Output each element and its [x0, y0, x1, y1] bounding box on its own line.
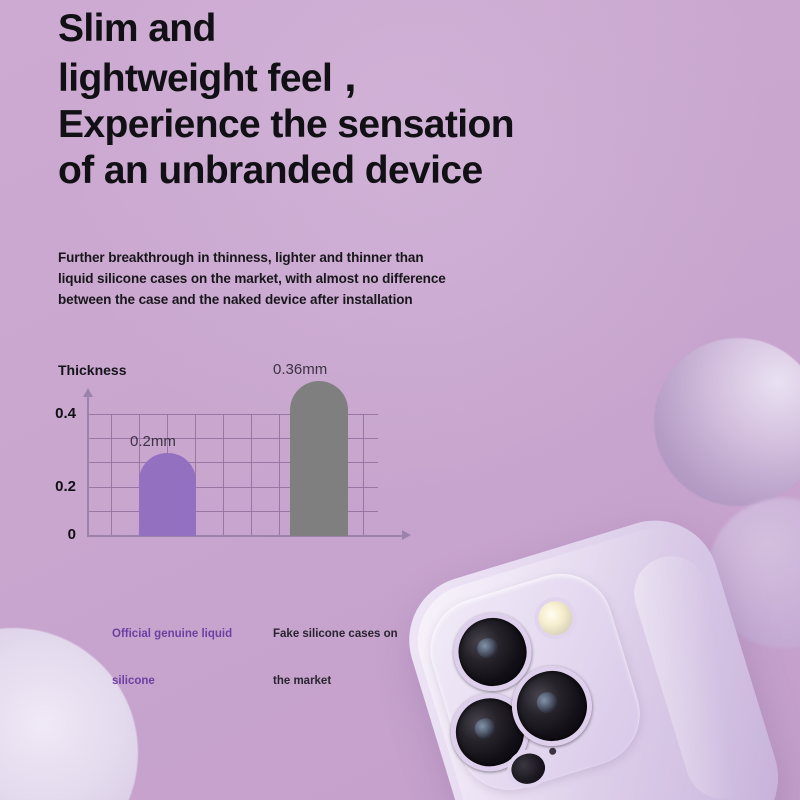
category-label-official: Official genuine liquid silicone	[112, 596, 232, 720]
lens-iris	[534, 689, 560, 715]
y-axis-tick-label: 0.2	[55, 478, 76, 495]
y-axis-tick-label: 0	[68, 526, 76, 543]
product-image-phone-case	[393, 472, 800, 800]
category-label-official-line-1: Official genuine liquid	[112, 627, 232, 643]
gridline-vertical	[363, 414, 364, 536]
bar-value-label-official: 0.2mm	[130, 433, 176, 450]
bar-fake-silicone	[290, 381, 348, 536]
headline-line-4: of an unbranded device	[58, 148, 678, 193]
headline-line-2-text: lightweight feel	[58, 57, 332, 100]
subcopy-line-1: Further breakthrough in thinness, lighte…	[58, 248, 558, 269]
product-marketing-page: Slim and lightweight feel, Experience th…	[0, 0, 800, 800]
lens-iris	[475, 636, 500, 661]
y-axis-line	[87, 396, 89, 536]
y-axis-tick-label: 0.4	[55, 405, 76, 422]
headline-line-2: lightweight feel,	[58, 51, 678, 102]
subcopy-line-3: between the case and the naked device af…	[58, 290, 558, 311]
bar-official-silicone	[139, 453, 196, 536]
headline-line-3: Experience the sensation	[58, 102, 678, 147]
category-label-official-line-2: silicone	[112, 674, 232, 690]
category-label-fake-line-1: Fake silicone cases on	[273, 627, 398, 643]
lens-iris	[473, 716, 498, 741]
category-label-fake: Fake silicone cases on the market	[273, 596, 398, 720]
gridline-vertical	[251, 414, 252, 536]
case-body	[393, 505, 794, 800]
chart-axis-title: Thickness	[58, 362, 126, 378]
gridline-vertical	[223, 414, 224, 536]
camera-flash-icon	[529, 592, 581, 644]
thickness-bar-chart: Thickness	[56, 362, 406, 627]
gridline-vertical	[111, 414, 112, 536]
x-axis-arrow-icon	[402, 530, 411, 540]
microphone-icon	[548, 747, 557, 756]
headline-line-1: Slim and	[58, 6, 678, 51]
page-title: Slim and lightweight feel, Experience th…	[58, 6, 678, 193]
category-label-fake-line-2: the market	[273, 674, 398, 690]
y-axis-arrow-icon	[83, 388, 93, 397]
x-axis-line	[87, 535, 405, 537]
headline-comma: ,	[332, 52, 356, 101]
gridline-vertical	[279, 414, 280, 536]
subcopy-paragraph: Further breakthrough in thinness, lighte…	[58, 248, 558, 311]
bar-value-label-fake: 0.36mm	[273, 361, 327, 378]
subcopy-line-2: liquid silicone cases on the market, wit…	[58, 269, 558, 290]
chart-plot-area: 0.4 0.2 0 0.2mm 0.36mm Official genuine …	[88, 414, 388, 536]
